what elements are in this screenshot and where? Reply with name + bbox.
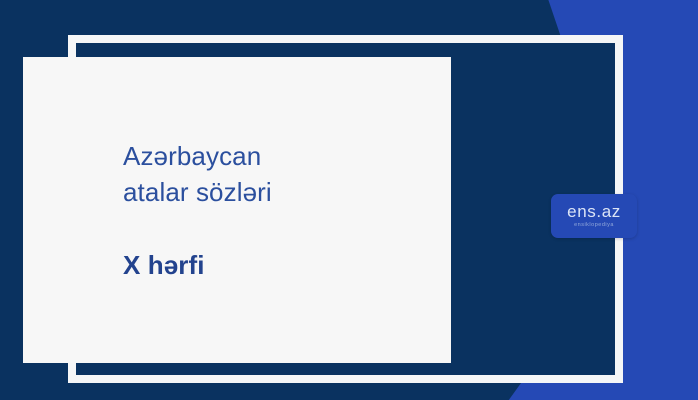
cover-card: Azərbaycan atalar sözləri X hərfi ens.az… bbox=[0, 0, 698, 400]
text-block: Azərbaycan atalar sözləri X hərfi bbox=[123, 139, 443, 283]
page-title-line-1: Azərbaycan bbox=[123, 139, 443, 175]
content-panel: Azərbaycan atalar sözləri X hərfi bbox=[23, 57, 451, 363]
logo-wordmark: ens.az bbox=[567, 203, 621, 220]
logo-tagline: ensiklopediya bbox=[574, 223, 614, 229]
page-title-line-2: atalar sözləri bbox=[123, 175, 443, 211]
page-subtitle: X hərfi bbox=[123, 249, 443, 283]
ensaz-logo-badge[interactable]: ens.az ensiklopediya bbox=[551, 194, 637, 238]
